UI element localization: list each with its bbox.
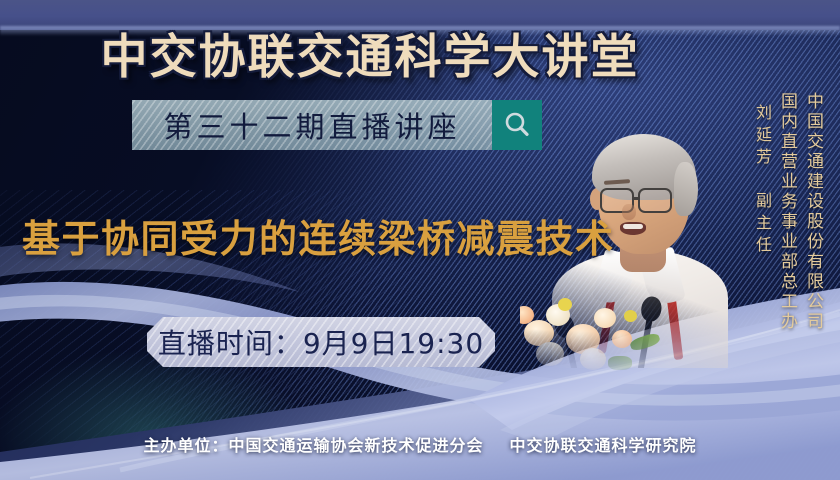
subtitle-text: 第三十二期直播讲座: [163, 104, 460, 146]
organizer-secondary: 中交协联交通科学研究院: [510, 436, 697, 455]
webinar-poster: 中交协联交通科学大讲堂 第三十二期直播讲座 基于协同受力的连续梁桥减震技术 直播…: [0, 0, 840, 480]
speaker-nose: [622, 204, 636, 220]
speaker-name-title: 刘延芳 副主任: [744, 92, 774, 258]
search-icon-box[interactable]: [492, 100, 542, 150]
speaker-credits: 刘延芳 副主任 国内直营业务事业部总工办 中国交通建设股份有限公司: [744, 92, 826, 332]
flower: [612, 330, 632, 348]
foliage: [629, 332, 661, 353]
page-title: 中交协联交通科学大讲堂: [0, 18, 740, 87]
podium-flowers: [520, 296, 710, 388]
flower-bud: [558, 298, 572, 311]
flower-bud: [624, 310, 637, 322]
broadcast-time-text: 直播时间：9月9日19:30: [158, 322, 484, 362]
flower: [580, 348, 606, 370]
speaker-company: 中国交通建设股份有限公司: [800, 92, 826, 332]
organizer-label: 主办单位：: [143, 436, 228, 455]
footer-organizers: 主办单位：中国交通运输协会新技术促进分会中交协联交通科学研究院: [0, 432, 840, 456]
flower: [594, 308, 616, 328]
organizer-primary: 中国交通运输协会新技术促进分会: [228, 436, 483, 455]
speaker-mouth: [620, 222, 646, 235]
broadcast-time-badge: 直播时间：9月9日19:30: [147, 317, 495, 367]
flower: [536, 342, 564, 366]
speaker-department: 国内直营业务事业部总工办: [774, 92, 800, 332]
lecture-title: 基于协同受力的连续梁桥减震技术: [22, 208, 622, 263]
speaker-glasses-bridge: [633, 197, 640, 200]
speaker-glasses-right-lens: [638, 188, 672, 213]
search-icon: [502, 110, 532, 140]
speaker-hair-side: [674, 162, 698, 216]
subtitle-banner: 第三十二期直播讲座: [132, 100, 492, 150]
foliage: [608, 356, 632, 370]
